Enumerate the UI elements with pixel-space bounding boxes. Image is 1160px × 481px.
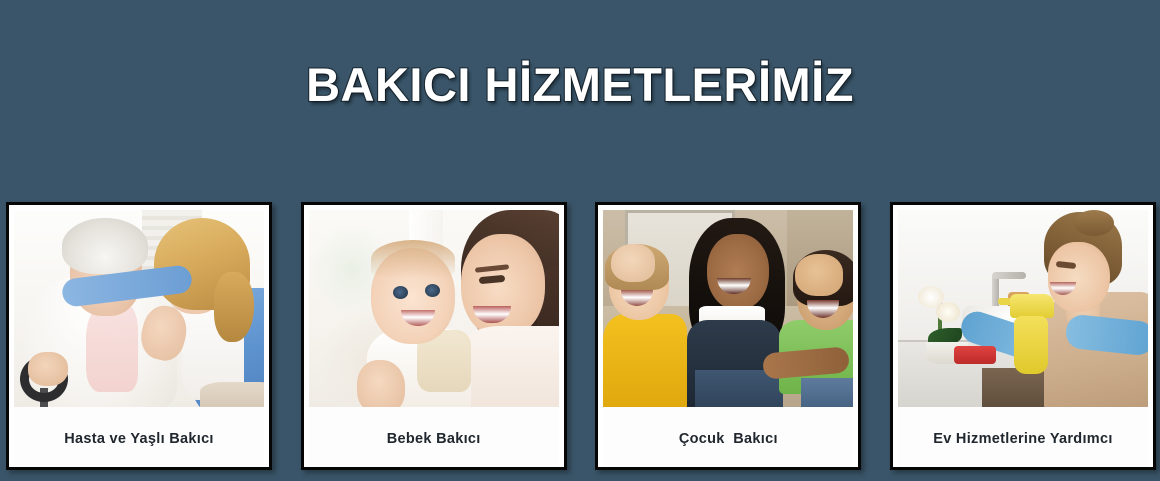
service-card-cocuk-bakici[interactable]: Çocuk Bakıcı bbox=[595, 202, 861, 470]
service-photo-baby-care bbox=[309, 210, 559, 407]
service-card-bebek-bakici[interactable]: Bebek Bakıcı bbox=[301, 202, 567, 470]
service-caption: Bebek Bakıcı bbox=[309, 407, 559, 467]
service-caption: Çocuk Bakıcı bbox=[603, 407, 853, 467]
service-label: Ev Hizmetlerine Yardımcı bbox=[933, 431, 1112, 447]
service-photo-child-care bbox=[603, 210, 853, 407]
service-label: Bebek Bakıcı bbox=[387, 431, 481, 447]
services-card-row: Hasta ve Yaşlı Bakıcı Bebek Bakıcı bbox=[0, 202, 1160, 472]
service-card-ev-hizmetlerine-yardimci[interactable]: Ev Hizmetlerine Yardımcı bbox=[890, 202, 1156, 470]
service-caption: Ev Hizmetlerine Yardımcı bbox=[898, 407, 1148, 467]
service-label: Çocuk Bakıcı bbox=[679, 431, 778, 447]
page-title: BAKICI HİZMETLERİMİZ bbox=[0, 60, 1160, 111]
service-label: Hasta ve Yaşlı Bakıcı bbox=[64, 431, 214, 447]
service-card-hasta-ve-yasli-bakici[interactable]: Hasta ve Yaşlı Bakıcı bbox=[6, 202, 272, 470]
service-photo-elderly-care bbox=[14, 210, 264, 407]
service-caption: Hasta ve Yaşlı Bakıcı bbox=[14, 407, 264, 467]
service-photo-house-cleaning bbox=[898, 210, 1148, 407]
